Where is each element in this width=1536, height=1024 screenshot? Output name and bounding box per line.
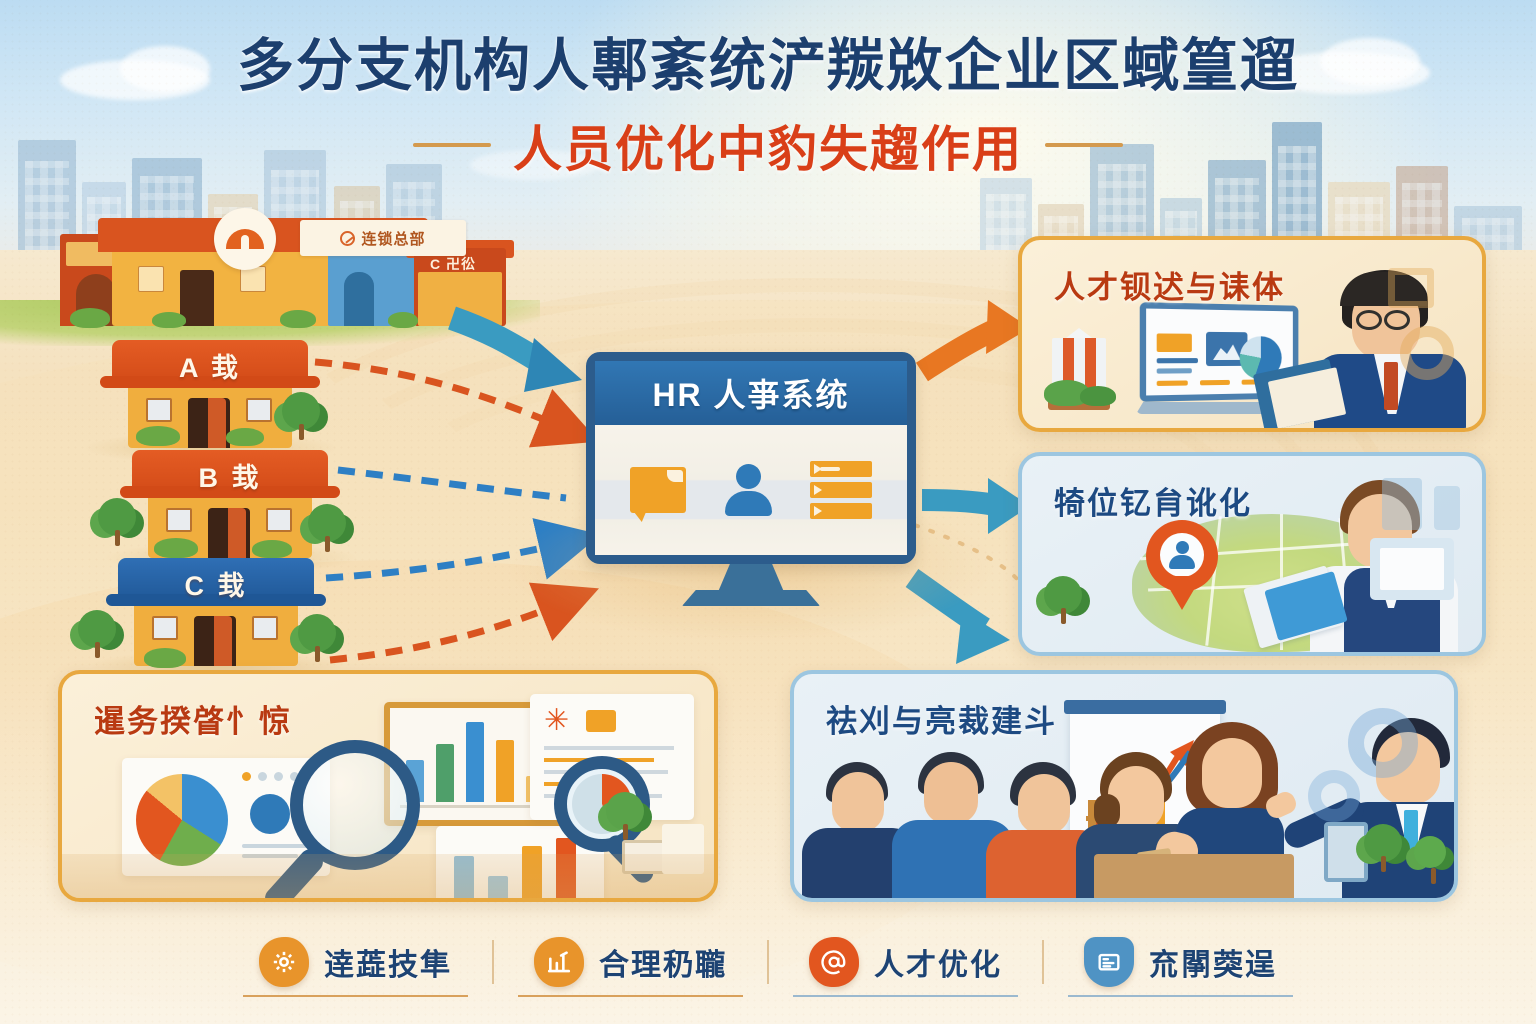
tree — [298, 614, 336, 652]
panel-title-planning-training: 祛刈与亮裁建斗 — [826, 696, 1057, 741]
monitor-bezel: HR 人亊系统 — [586, 352, 916, 564]
storefront-blue-door — [344, 272, 374, 326]
bush — [1080, 386, 1116, 406]
badge-underline — [1068, 995, 1293, 997]
folder-icon — [630, 467, 686, 513]
panel-data-analysis[interactable]: ✳ 暹务揆䁈忄惊 — [58, 670, 718, 902]
branch-window — [146, 398, 172, 422]
branch-store-c: C 㦳 — [118, 558, 314, 668]
storefront-window — [138, 266, 164, 292]
page-title: 多分支机构人鄟紊统浐羰敚企业区蜮篁遛 — [0, 36, 1536, 98]
brand-logo-icon — [214, 208, 276, 270]
panel-talent-review[interactable]: 人才钡迖与诔体 — [1018, 236, 1486, 432]
badge-underline — [243, 995, 468, 997]
branch-window — [152, 616, 178, 640]
page-subtitle: 人员优化中豹失趨作用 — [513, 110, 1023, 181]
branch-label-b: B 㦳 — [132, 456, 328, 495]
screen-line — [1157, 358, 1198, 363]
branch-window — [166, 508, 192, 532]
glasses-icon — [1384, 310, 1410, 330]
storefront-side-sign: C 卍彸 — [430, 254, 476, 274]
employee-avatar-icon — [720, 464, 776, 516]
branch-door — [208, 508, 250, 558]
decor-panel — [1382, 478, 1422, 530]
infographic-canvas: 多分支机构人鄟紊统浐羰敚企业区蜮篁遛 人员优化中豹失趨作用 C 卍彸 连锁总部 — [0, 0, 1536, 1024]
bush — [226, 428, 264, 446]
screen-block — [1157, 333, 1192, 352]
info-card-sheet — [1380, 548, 1444, 590]
branch-window — [266, 508, 292, 532]
tag-chip — [586, 710, 616, 732]
panel-title-data-analysis: 暹务揆䁈忄惊 — [94, 696, 292, 741]
footer-badge-allocation[interactable]: 合理䄧䏊 — [494, 937, 767, 987]
id-card-icon — [1084, 937, 1134, 987]
decor-panel — [1434, 486, 1460, 530]
table-surface — [1094, 854, 1294, 898]
location-pin-icon — [1146, 520, 1218, 610]
tree — [308, 504, 346, 542]
bush — [136, 426, 180, 446]
storefront-side-body — [418, 272, 502, 326]
bar-chart-icon — [534, 937, 584, 987]
text-line — [544, 746, 674, 750]
panel-title-talent-review: 人才钡迖与诔体 — [1054, 262, 1285, 307]
tree — [282, 392, 320, 430]
bush — [70, 308, 110, 328]
tree — [98, 498, 136, 536]
at-sign-icon — [809, 937, 859, 987]
star-icon: ✳ — [544, 708, 570, 734]
tree — [1044, 576, 1082, 614]
screen-line — [1157, 368, 1192, 373]
branch-window — [252, 616, 278, 640]
tree — [78, 610, 116, 648]
hr-system-title: HR 人亊系统 — [652, 370, 849, 416]
badge-underline — [793, 995, 1018, 997]
storefront-sign-text: 连锁总部 — [361, 228, 425, 249]
bush — [144, 648, 186, 668]
record-list-icon — [810, 461, 872, 519]
badge-underline — [518, 995, 743, 997]
branch-door — [188, 398, 230, 448]
page-subtitle-row: 人员优化中豹失趨作用 — [0, 110, 1536, 181]
screen-line — [1157, 380, 1188, 386]
footer-badge-standards[interactable]: 逹蕋技隼 — [219, 937, 492, 987]
necktie — [1384, 362, 1398, 410]
bar — [466, 722, 484, 802]
magnifier-icon-large — [290, 740, 420, 870]
gear-icon — [1400, 326, 1454, 380]
footer-badge-label: 㐬䦛葖逞 — [1149, 940, 1277, 984]
tree — [1364, 824, 1402, 862]
gear-icon — [1308, 770, 1360, 822]
glasses-icon — [1356, 310, 1382, 330]
branch-store-b: B 㦳 — [132, 450, 328, 560]
panel-title-position-optimize: 犄位钇䏍讹化 — [1054, 478, 1252, 523]
branch-window — [246, 398, 272, 422]
panel-position-optimize[interactable]: 犄位钇䏍讹化 — [1018, 452, 1486, 656]
tree — [606, 792, 644, 830]
avatar-chip — [250, 794, 290, 834]
sign-mark-icon — [340, 231, 355, 246]
bar — [436, 744, 454, 802]
footer-badges: 逹蕋技隼 合理䄧䏊 人才优化 — [0, 916, 1536, 1008]
hair-bun — [1094, 794, 1120, 828]
bar — [496, 740, 514, 802]
gear-icon — [1348, 708, 1418, 778]
panel-planning-training[interactable]: 祛刈与亮裁建斗 — [790, 670, 1458, 902]
subtitle-dash-left — [413, 143, 491, 147]
branch-label-a: A 㦳 — [112, 346, 308, 385]
footer-badge-label: 逹蕋技隼 — [324, 940, 452, 984]
hr-system-monitor: HR 人亊系统 — [586, 352, 916, 614]
decor-frame-icon — [1388, 268, 1434, 308]
footer-badge-label: 人才优化 — [874, 940, 1002, 984]
footer-badge-label: 合理䄧䏊 — [599, 940, 727, 984]
monitor-screen — [595, 425, 907, 555]
monitor-base — [682, 590, 820, 606]
branch-store-a: A 㦳 — [112, 340, 308, 450]
bush — [252, 540, 292, 558]
branch-door — [194, 616, 236, 666]
monitor-header-bar: HR 人亊系统 — [595, 361, 907, 425]
screen-line — [1200, 380, 1230, 385]
table-surface — [62, 854, 718, 898]
pie-chart — [136, 774, 228, 866]
storefront-signboard: 连锁总部 — [300, 220, 466, 256]
tree — [1414, 836, 1446, 868]
headquarters-storefront: C 卍彸 连锁总部 — [52, 196, 482, 326]
gear-icon — [259, 937, 309, 987]
page-title-block: 多分支机构人鄟紊统浐羰敚企业区蜮篁遛 人员优化中豹失趨作用 — [0, 36, 1536, 181]
bush — [388, 312, 418, 328]
bush — [154, 538, 198, 558]
footer-badge-franchise[interactable]: 㐬䦛葖逞 — [1044, 937, 1317, 987]
handheld-tablet — [1324, 822, 1368, 882]
subtitle-dash-right — [1045, 143, 1123, 147]
footer-badge-talent[interactable]: 人才优化 — [769, 937, 1042, 987]
bush — [280, 310, 316, 328]
branch-label-c: C 㦳 — [118, 564, 314, 603]
bush — [152, 312, 186, 328]
